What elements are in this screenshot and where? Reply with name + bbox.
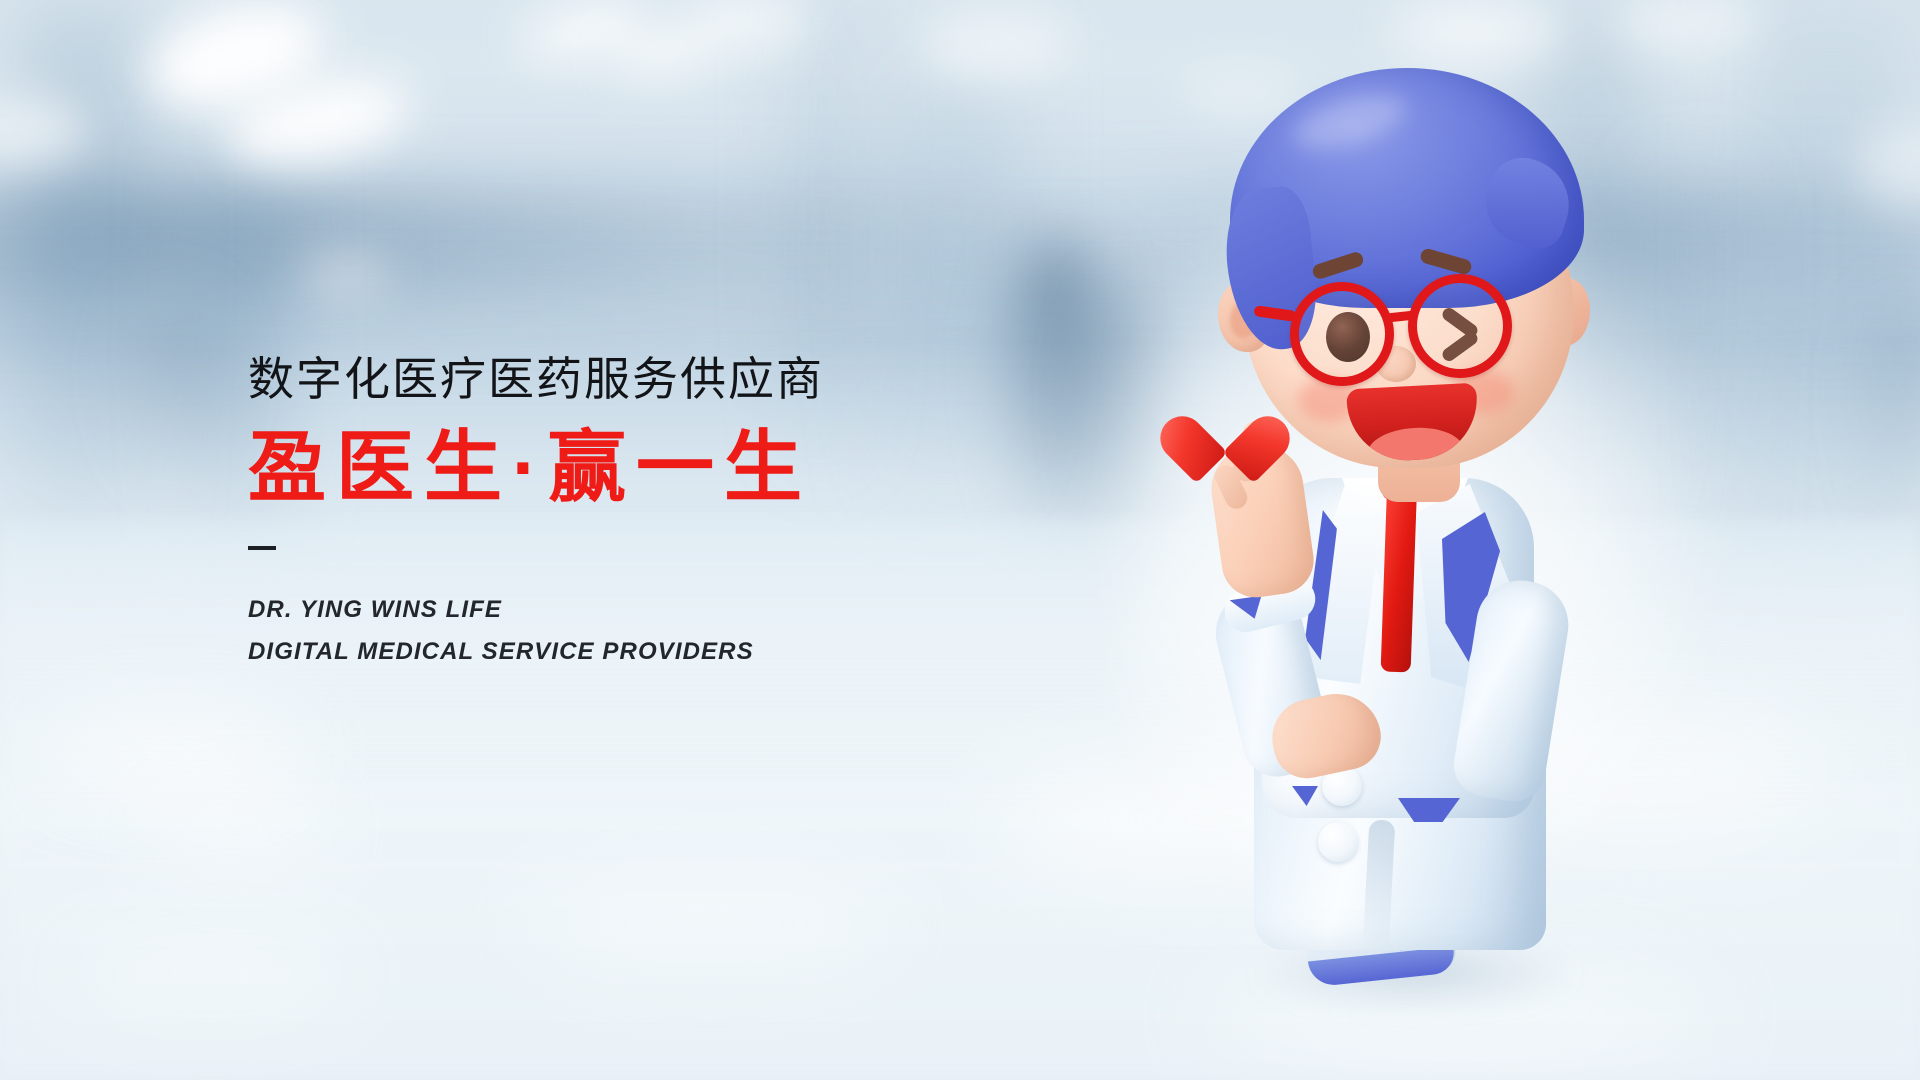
floor-reflection [520,880,900,970]
english-tagline-line-1: DR. YING WINS LIFE [248,592,1068,628]
pillar-blur-1 [18,0,148,560]
tongue [1366,425,1464,463]
glasses-lens-left [1290,282,1394,386]
glasses-lens-right [1408,274,1512,378]
coat-button [1318,822,1358,862]
staff-silhouette-3 [130,300,220,480]
banner-headline: 盈医生·赢一生 [248,424,1068,511]
floor-reflection [150,800,330,858]
english-tagline-line-2: DIGITAL MEDICAL SERVICE PROVIDERS [248,634,1068,670]
hero-copy-block: 数字化医疗医药服务供应商 盈医生·赢一生 DR. YING WINS LIFE … [248,352,1068,671]
doctor-character-illustration [1180,60,1740,1020]
floor-reflection [40,720,300,790]
ceiling-light-bokeh [1395,0,1565,62]
headline-divider [248,546,276,550]
hero-banner: 数字化医疗医药服务供应商 盈医生·赢一生 DR. YING WINS LIFE … [0,0,1920,1080]
ceiling-light-bokeh [920,10,1070,80]
ceiling-light-bokeh [300,252,390,296]
heart-icon [1188,400,1262,470]
banner-subtitle: 数字化医疗医药服务供应商 [248,352,1068,406]
floor-reflection [60,940,360,1010]
